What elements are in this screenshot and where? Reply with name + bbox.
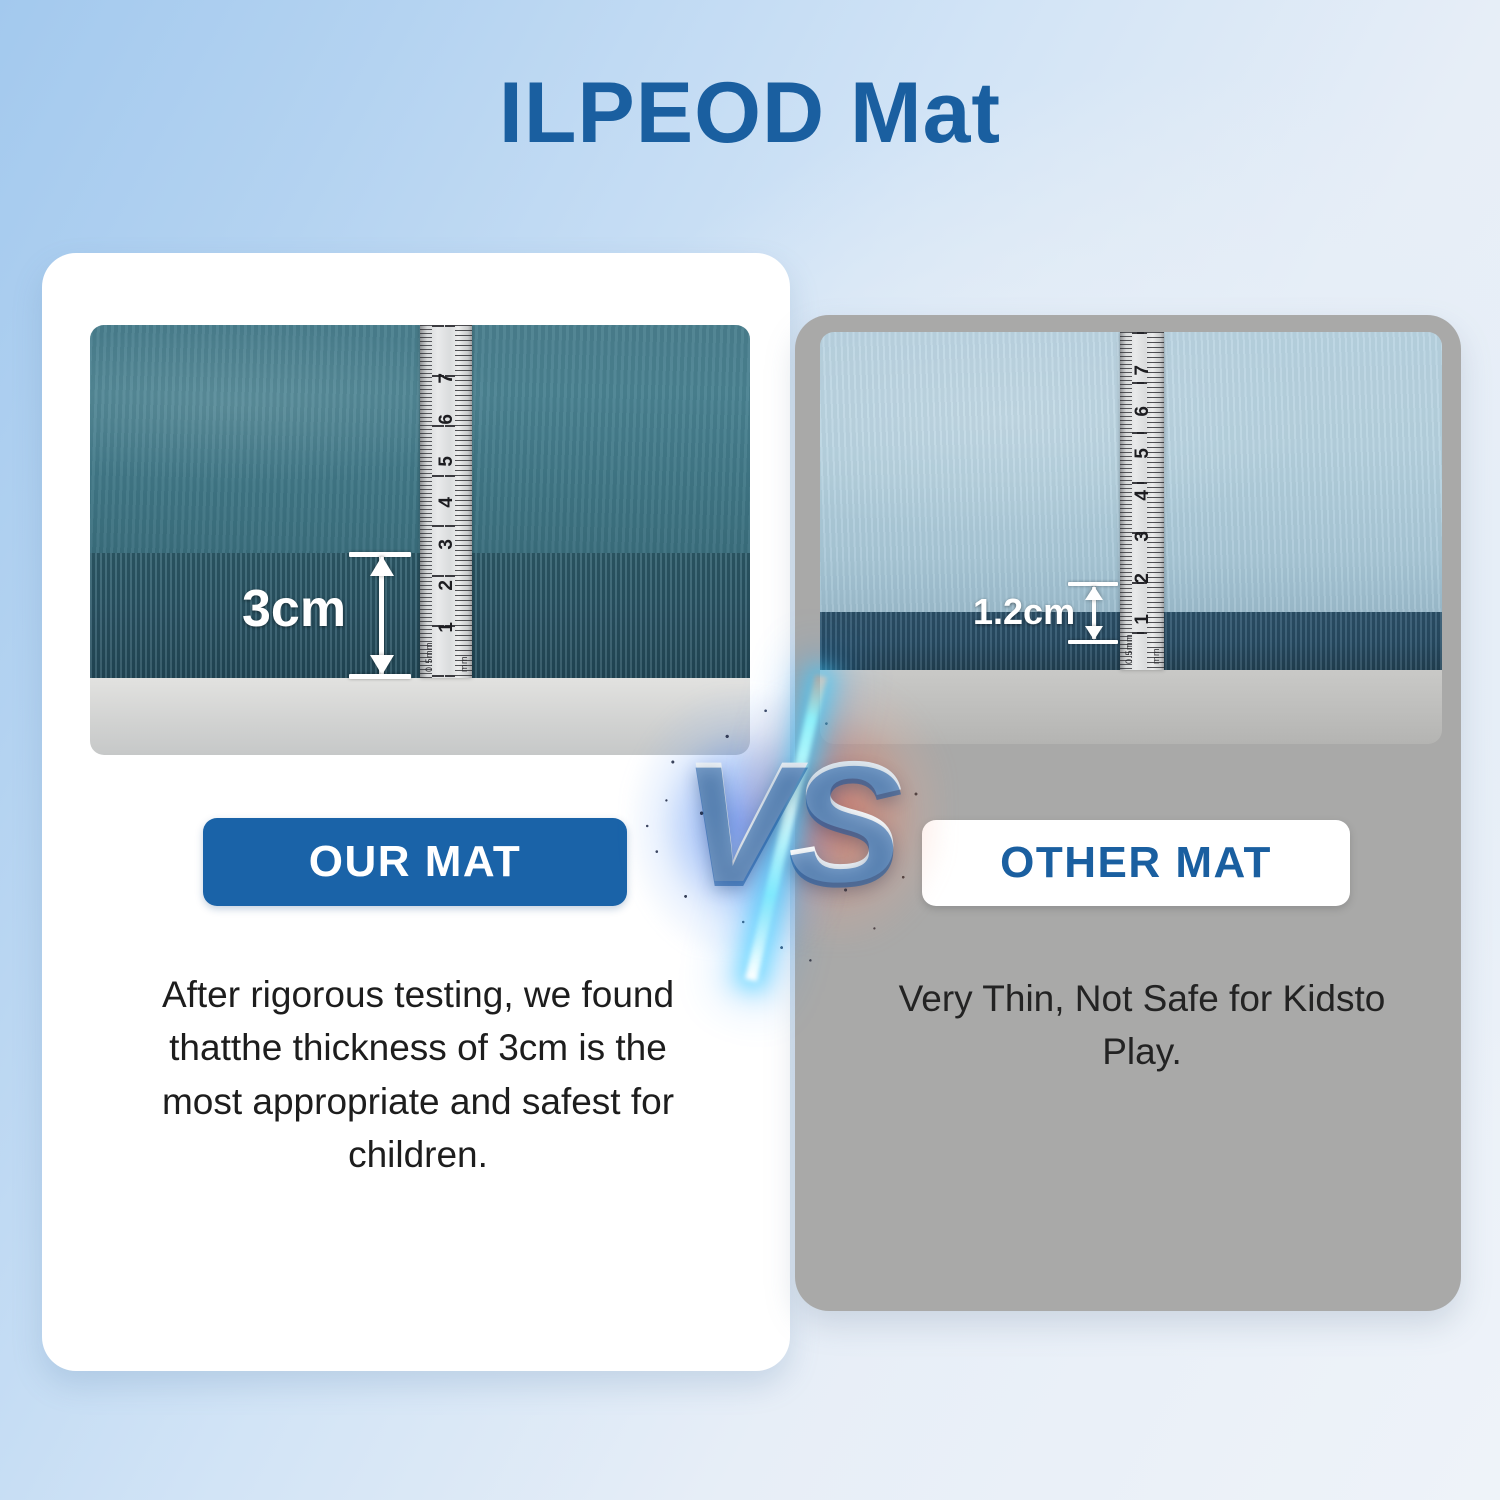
versus-emblem: VS	[628, 666, 948, 986]
our-mat-measure-label: 3cm	[242, 583, 346, 635]
measure-arrowhead-down	[1085, 626, 1103, 640]
our-mat-measure-arrow	[375, 552, 387, 679]
other-mat-measure-label: 1.2cm	[973, 594, 1075, 630]
other-mat-badge-label: OTHER MAT	[1000, 838, 1272, 888]
our-mat-badge[interactable]: OUR MAT	[203, 818, 627, 906]
page-title: ILPEOD Mat	[0, 66, 1500, 161]
measure-cap-bottom	[1068, 640, 1118, 644]
our-mat-badge-label: OUR MAT	[309, 837, 522, 887]
measure-arrowhead-up	[1085, 586, 1103, 600]
other-mat-description: Very Thin, Not Safe for Kidsto Play.	[892, 972, 1392, 1079]
other-mat-measure-arrow	[1088, 582, 1100, 644]
measure-arrowhead-up	[370, 556, 394, 576]
our-mat-description: After rigorous testing, we found thatthe…	[128, 968, 708, 1181]
infographic-canvas: ILPEOD Mat 1 2 3 4 5 6 7 0.5mm mm	[0, 0, 1500, 1500]
versus-label: VS	[628, 666, 948, 986]
measure-arrowhead-down	[370, 655, 394, 675]
measure-cap-bottom	[349, 674, 411, 679]
other-mat-badge[interactable]: OTHER MAT	[922, 820, 1350, 906]
